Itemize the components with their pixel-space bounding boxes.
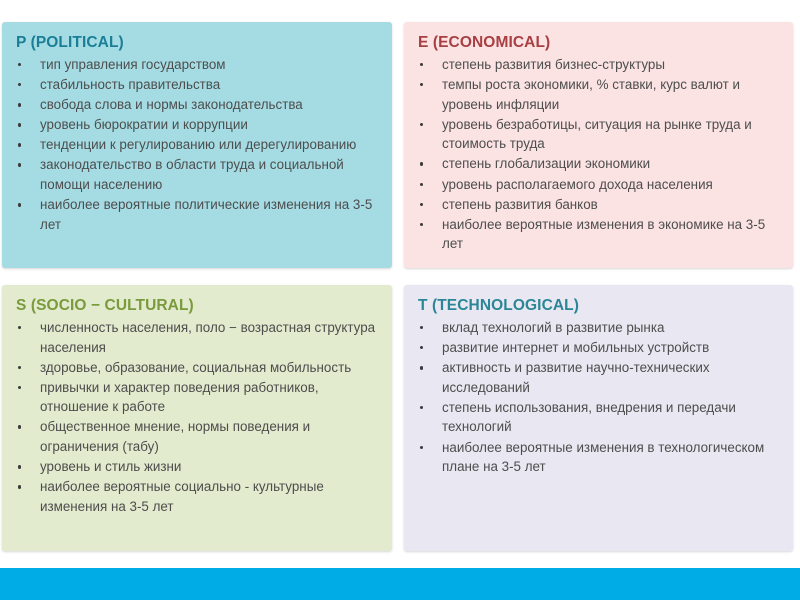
- list-item-label: привычки и характер поведения работников…: [40, 380, 319, 415]
- list-item: законодательство в области труда и социа…: [2, 155, 378, 194]
- quadrant-economical: E (ECONOMICAL) степень развития бизнес-с…: [404, 22, 793, 268]
- quadrant-economical-list: степень развития бизнес-структуры темпы …: [404, 55, 793, 264]
- quadrant-technological: T (TECHNOLOGICAL) вклад технологий в раз…: [404, 285, 793, 551]
- list-item: развитие интернет и мобильных устройств: [404, 338, 779, 358]
- bullet-dot-icon: [420, 446, 423, 449]
- quadrant-technological-list: вклад технологий в развитие рынка развит…: [404, 318, 793, 487]
- list-item: уровень бюрократии и коррупции: [2, 115, 378, 135]
- list-item-label: темпы роста экономики, % ставки, курс ва…: [442, 77, 740, 112]
- list-item: наиболее вероятные изменения в экономике…: [404, 215, 779, 254]
- bullet-dot-icon: [420, 223, 423, 226]
- list-item-label: степень глобализации экономики: [442, 156, 650, 171]
- bullet-dot-icon: [420, 63, 423, 66]
- bullet-dot-icon: [420, 346, 423, 349]
- list-item: численность населения, поло − возрастная…: [2, 318, 378, 357]
- list-item: свобода слова и нормы законодательства: [2, 95, 378, 115]
- bullet-dot-icon: [420, 123, 423, 126]
- list-item-label: численность населения, поло − возрастная…: [40, 320, 375, 355]
- list-item-label: тип управления государством: [40, 57, 225, 72]
- bullet-dot-icon: [18, 425, 21, 428]
- list-item: тенденции к регулированию или дерегулиро…: [2, 135, 378, 155]
- list-item-label: стабильность правительства: [40, 77, 220, 92]
- bullet-dot-icon: [18, 143, 21, 146]
- list-item-label: уровень и стиль жизни: [40, 459, 181, 474]
- list-item-label: общественное мнение, нормы поведения и о…: [40, 419, 310, 454]
- quadrant-socio-cultural-title: S (SOCIO − CULTURAL): [16, 297, 392, 315]
- bullet-dot-icon: [18, 386, 21, 389]
- bullet-dot-icon: [18, 465, 21, 468]
- bullet-dot-icon: [18, 485, 21, 488]
- quadrant-technological-title: T (TECHNOLOGICAL): [418, 297, 793, 315]
- bullet-dot-icon: [420, 203, 423, 206]
- list-item: наиболее вероятные политические изменени…: [2, 195, 378, 234]
- bullet-dot-icon: [420, 326, 423, 329]
- bullet-dot-icon: [420, 406, 423, 409]
- list-item: степень развития банков: [404, 195, 779, 215]
- list-item: активность и развитие научно-технических…: [404, 358, 779, 397]
- list-item: привычки и характер поведения работников…: [2, 378, 378, 417]
- bullet-dot-icon: [18, 203, 21, 206]
- quadrant-economical-title: E (ECONOMICAL): [418, 34, 793, 52]
- pest-analysis-board: P (POLITICAL) тип управления государство…: [0, 0, 800, 600]
- list-item: общественное мнение, нормы поведения и о…: [2, 417, 378, 456]
- bullet-dot-icon: [18, 103, 21, 106]
- bullet-dot-icon: [18, 83, 21, 86]
- quadrant-political: P (POLITICAL) тип управления государство…: [2, 22, 392, 268]
- list-item-label: наиболее вероятные изменения в экономике…: [442, 217, 765, 252]
- list-item-label: здоровье, образование, социальная мобиль…: [40, 360, 351, 375]
- quadrant-socio-cultural-list: численность населения, поло − возрастная…: [2, 318, 392, 527]
- list-item: наиболее вероятные социально - культурны…: [2, 477, 378, 516]
- list-item: степень развития бизнес-структуры: [404, 55, 779, 75]
- list-item-label: уровень располагаемого дохода населения: [442, 177, 713, 192]
- bullet-dot-icon: [420, 162, 423, 165]
- bullet-dot-icon: [18, 63, 21, 66]
- list-item: уровень располагаемого дохода населения: [404, 175, 779, 195]
- list-item-label: наиболее вероятные политические изменени…: [40, 197, 372, 232]
- list-item: стабильность правительства: [2, 75, 378, 95]
- bullet-dot-icon: [420, 183, 423, 186]
- list-item-label: степень использования, внедрения и перед…: [442, 400, 736, 435]
- bullet-dot-icon: [420, 83, 423, 86]
- list-item-label: уровень бюрократии и коррупции: [40, 117, 248, 132]
- list-item-label: развитие интернет и мобильных устройств: [442, 340, 709, 355]
- list-item: вклад технологий в развитие рынка: [404, 318, 779, 338]
- footer-accent-band: [0, 568, 800, 600]
- quadrant-political-list: тип управления государством стабильность…: [2, 55, 392, 245]
- list-item-label: тенденции к регулированию или дерегулиро…: [40, 137, 356, 152]
- list-item: здоровье, образование, социальная мобиль…: [2, 358, 378, 378]
- list-item: темпы роста экономики, % ставки, курс ва…: [404, 75, 779, 114]
- list-item-label: степень развития бизнес-структуры: [442, 57, 665, 72]
- quadrant-socio-cultural: S (SOCIO − CULTURAL) численность населен…: [2, 285, 392, 551]
- quadrant-political-title: P (POLITICAL): [16, 34, 392, 52]
- list-item: уровень и стиль жизни: [2, 457, 378, 477]
- bullet-dot-icon: [420, 366, 423, 369]
- list-item: тип управления государством: [2, 55, 378, 75]
- list-item-label: уровень безработицы, ситуация на рынке т…: [442, 117, 752, 152]
- list-item-label: степень развития банков: [442, 197, 598, 212]
- list-item-label: законодательство в области труда и социа…: [40, 157, 344, 192]
- list-item-label: наиболее вероятные изменения в технологи…: [442, 440, 764, 475]
- bullet-dot-icon: [18, 123, 21, 126]
- list-item: степень глобализации экономики: [404, 154, 779, 174]
- list-item-label: свобода слова и нормы законодательства: [40, 97, 303, 112]
- list-item-label: наиболее вероятные социально - культурны…: [40, 479, 324, 514]
- list-item: уровень безработицы, ситуация на рынке т…: [404, 115, 779, 154]
- bullet-dot-icon: [18, 163, 21, 166]
- bullet-dot-icon: [18, 326, 21, 329]
- list-item-label: вклад технологий в развитие рынка: [442, 320, 664, 335]
- list-item: наиболее вероятные изменения в технологи…: [404, 438, 779, 477]
- list-item: степень использования, внедрения и перед…: [404, 398, 779, 437]
- bullet-dot-icon: [18, 366, 21, 369]
- list-item-label: активность и развитие научно-технических…: [442, 360, 710, 395]
